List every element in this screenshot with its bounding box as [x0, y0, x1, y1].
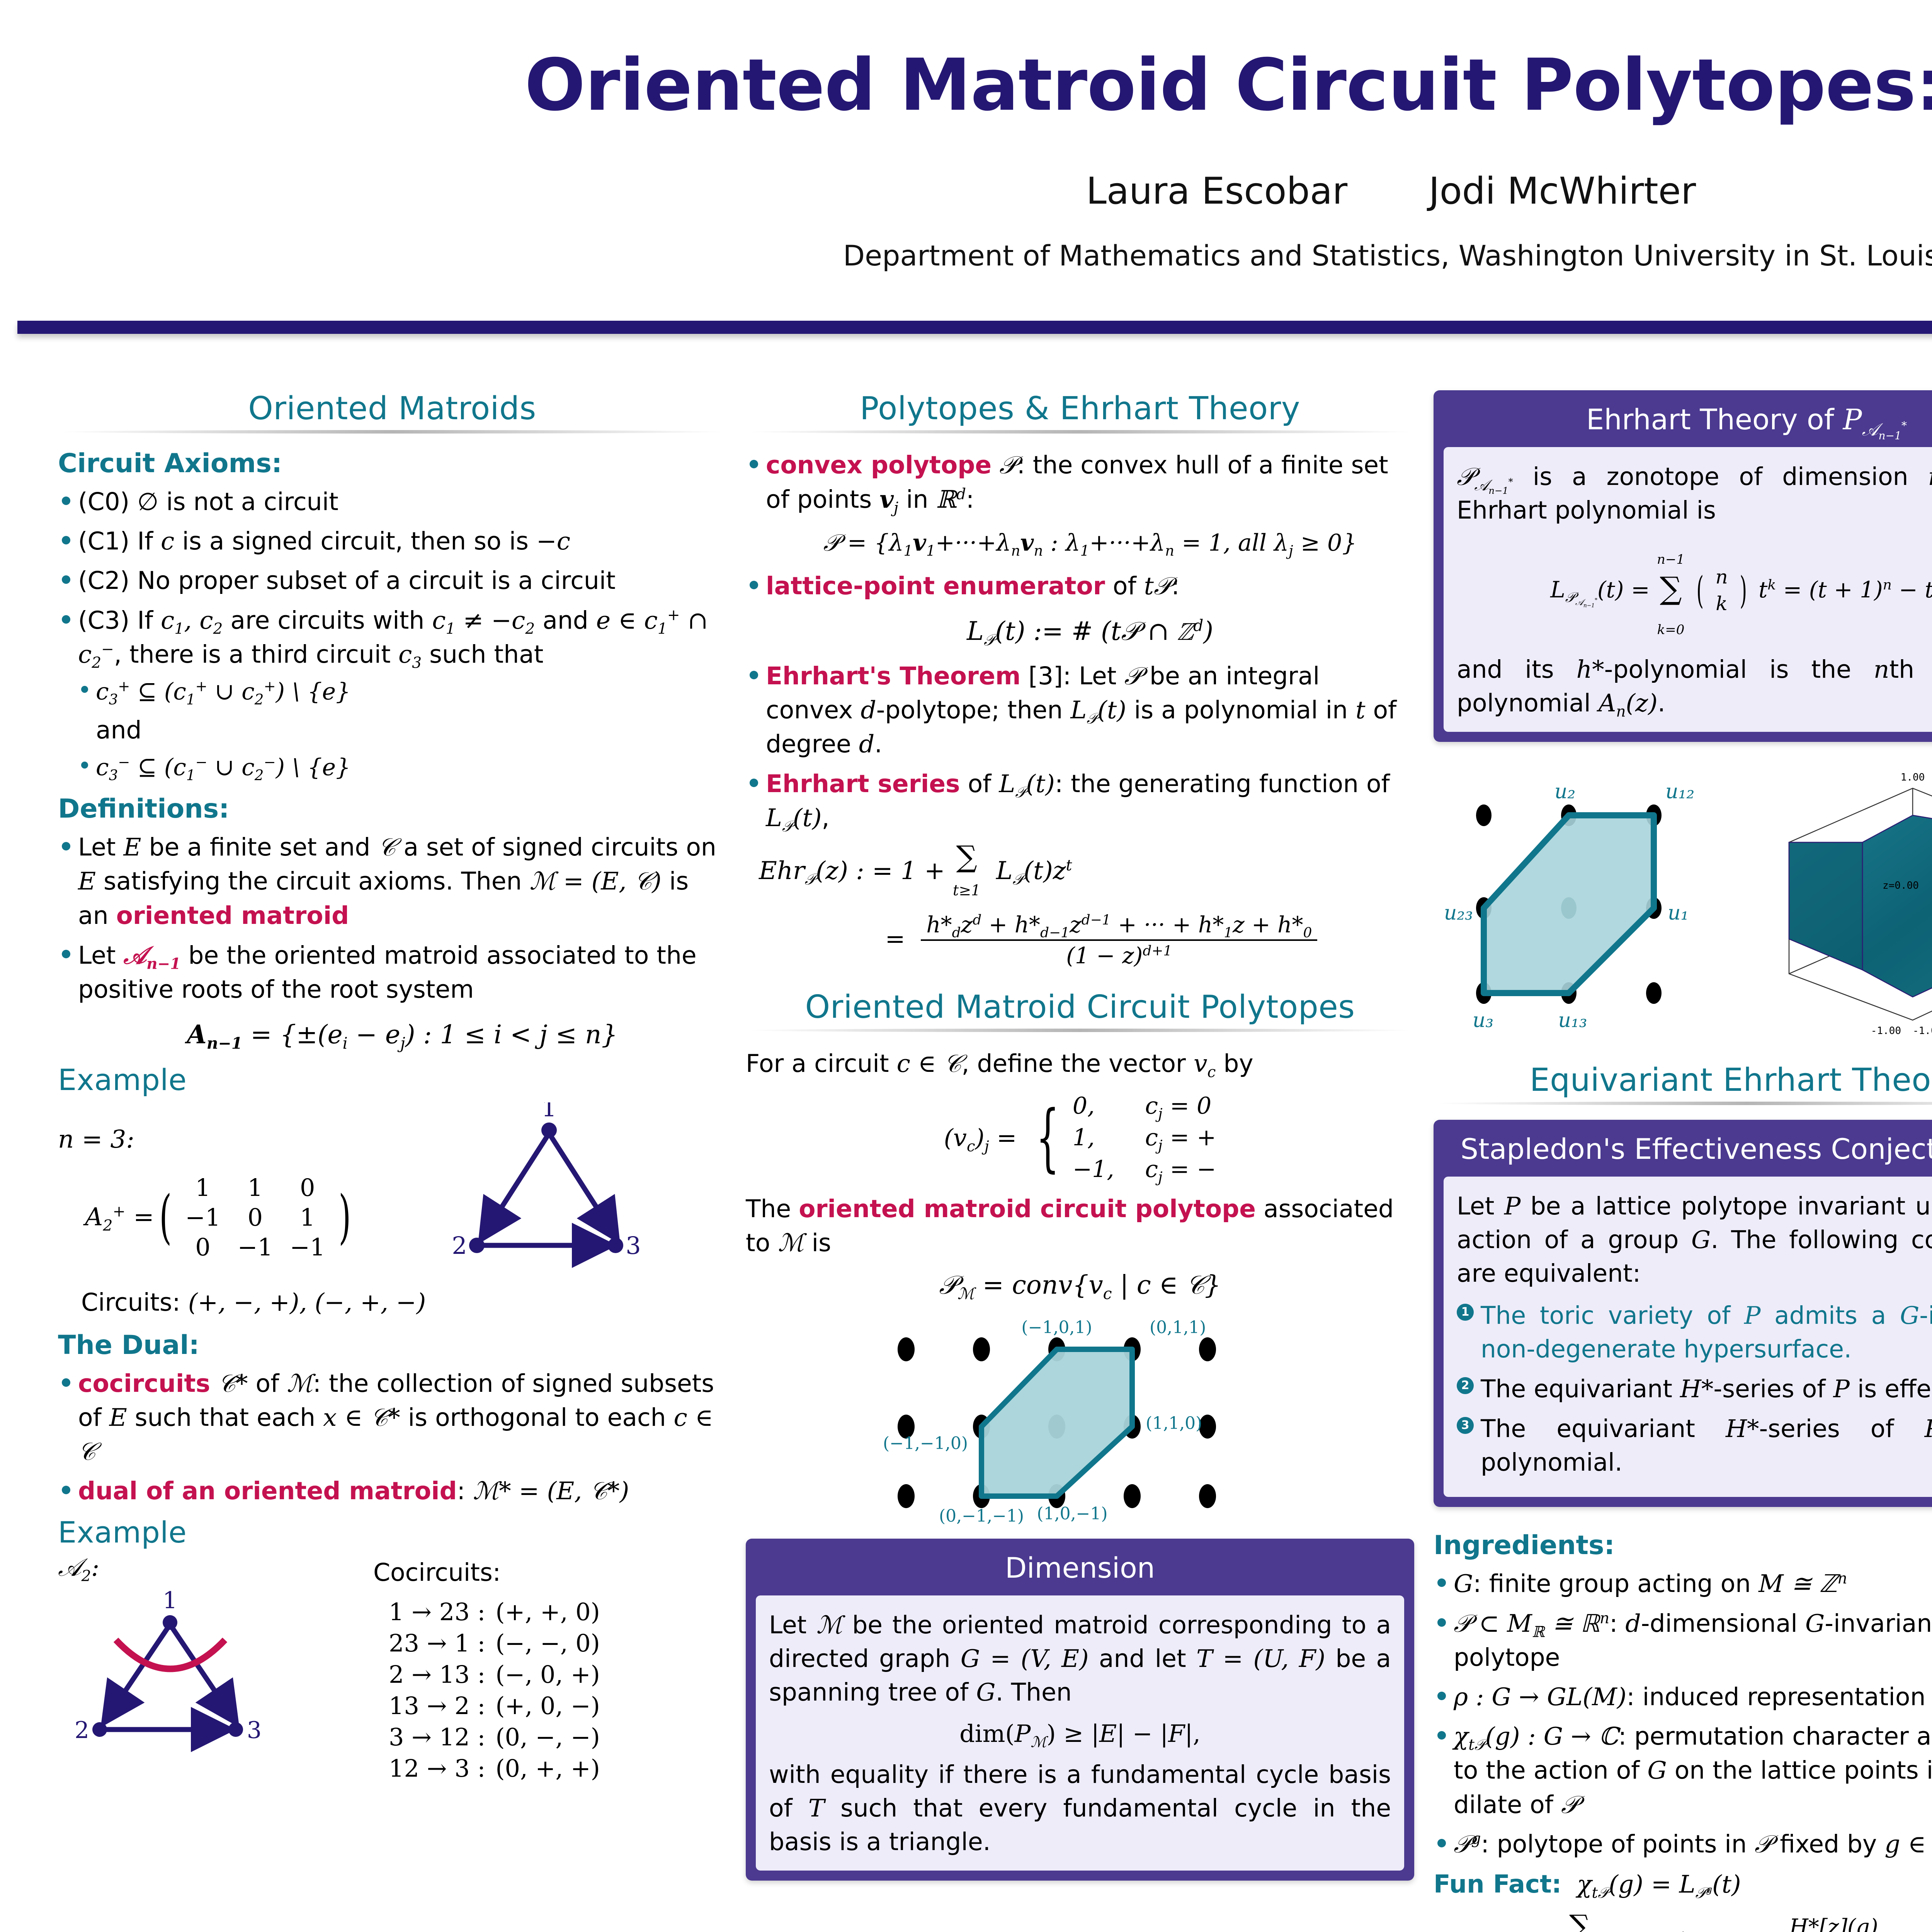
lattice-enumerator-equation: L𝒫(t) := # (t𝒫 ∩ ℤd) [766, 614, 1414, 649]
svg-text:(1,0,−1): (1,0,−1) [1037, 1504, 1107, 1524]
stapledon-conjecture-block: Stapledon's Effectiveness Conjecture [5]… [1434, 1120, 1932, 1507]
svg-text:u₂₃: u₂₃ [1444, 901, 1473, 925]
root-system-equation: An−1 = {±(ei − ej) : 1 ≤ i < j ≤ n} [78, 1017, 726, 1053]
svg-text:(1,1,0): (1,1,0) [1146, 1413, 1202, 1433]
author-1: Laura Escobar [1086, 170, 1347, 213]
svg-text:1: 1 [163, 1587, 177, 1614]
axiom-c2: (C2) No proper subset of a circuit is a … [58, 564, 726, 598]
hexagon-lattice-figure: (−1,0,1) (0,1,1) (1,1,0) (−1,−1,0) (0,−1… [746, 1311, 1414, 1529]
matrix-label: A2+ = [85, 1203, 154, 1231]
section-heading-polytopes: Polytopes & Ehrhart Theory [746, 390, 1414, 427]
vector-vc-lead: For a circuit c ∈ 𝒞, define the vector v… [746, 1047, 1414, 1081]
svg-text:z=0.00: z=0.00 [1883, 880, 1919, 891]
svg-text:(−1,0,1): (−1,0,1) [1021, 1318, 1092, 1337]
circuits-line: Circuits: (+, −, +), (−, +, −) [81, 1286, 726, 1320]
definition-cocircuits: cocircuits 𝒞* of ℳ: the collection of si… [58, 1367, 726, 1469]
ingredients-label: Ingredients: [1434, 1530, 1932, 1561]
page-title: Oriented Matroid Circuit Polytopes: Type… [0, 43, 1932, 127]
definition-lattice-point-enumerator: lattice-point enumerator of t𝒫: L𝒫(t) :=… [746, 569, 1414, 649]
column-oriented-matroids: Oriented Matroids Circuit Axioms: (C0) ∅… [58, 390, 726, 1784]
omcp-lead: The oriented matroid circuit polytope as… [746, 1192, 1414, 1260]
dimension-block: Dimension Let ℳ be the oriented matroid … [746, 1539, 1414, 1880]
circuit-axioms-list: (C0) ∅ is not a circuit (C1) If c is a s… [58, 485, 726, 784]
section-rule [746, 430, 1414, 434]
svg-text:u₃: u₃ [1473, 1009, 1493, 1032]
definition-convex-polytope: convex polytope 𝒫: the convex hull of a … [746, 448, 1414, 559]
dimension-equation: dim(Pℳ) ≥ |E| − |F|, [769, 1717, 1391, 1750]
list-number-1: 1 [1457, 1304, 1474, 1321]
ingredient-P: 𝒫 ⊂ Mℝ ≅ ℝn: d-dimensional G-invariant l… [1434, 1607, 1932, 1675]
section-heading-omcp: Oriented Matroid Circuit Polytopes [746, 989, 1414, 1026]
svg-text:2: 2 [75, 1717, 89, 1744]
svg-text:3: 3 [247, 1717, 262, 1744]
convex-polytope-equation: 𝒫 = {λ1v1+···+λnvn : λ1+···+λn = 1, all … [766, 527, 1414, 559]
ehrhart-series-fraction: = h*dzd + h*d−1zd−1 + ··· + h*1z + h*0 (… [788, 912, 1414, 969]
matrix-A2plus: 110 −101 0−1−1 [177, 1173, 333, 1262]
cocircuits-bold: cocircuits [78, 1369, 210, 1398]
dual-label: The Dual: [58, 1330, 726, 1361]
directed-triangle-graph-2: 1 2 3 [58, 1582, 328, 1764]
ehrhart-theory-heading: Ehrhart Theory of P𝒜n−1* [1434, 390, 1932, 447]
axiom-c3-sub-plus: c3+ ⊆ (c1+ ∪ c2+) \ {e} [78, 675, 726, 708]
table-row: 3 → 12 :(0, −, −) [389, 1721, 600, 1753]
example-heading-2: Example [58, 1515, 726, 1549]
column-ehrhart-theory: Ehrhart Theory of P𝒜n−1* 𝒫𝒜n−1* is a zon… [1434, 390, 1932, 1932]
table-row: 0,cj = 0 [1073, 1090, 1216, 1122]
section-heading-equivariant: Equivariant Ehrhart Theory [1434, 1062, 1932, 1099]
a2-label: 𝒜2: [58, 1553, 363, 1582]
table-row: −1,cj = − [1073, 1153, 1216, 1185]
ingredients-list: G: finite group acting on M ≅ ℤn 𝒫 ⊂ Mℝ … [1434, 1567, 1932, 1861]
author-2: Jodi McWhirter [1429, 170, 1696, 213]
affiliation: Department of Mathematics and Statistics… [0, 240, 1932, 272]
definitions-label: Definitions: [58, 794, 726, 824]
column-polytopes-ehrhart: Polytopes & Ehrhart Theory convex polyto… [746, 390, 1414, 1904]
svg-text:2: 2 [452, 1231, 467, 1260]
ehrharts-theorem: Ehrhart's Theorem [3]: Let 𝒫 be an integ… [746, 659, 1414, 762]
fun-fact: Fun Fact: χt𝒫(g) = L𝒫g(t) [1434, 1867, 1932, 1902]
table-row: 1,cj = + [1073, 1122, 1216, 1153]
svg-text:1.00: 1.00 [1901, 772, 1925, 783]
lattice-enumerator-bold: lattice-point enumerator [766, 572, 1105, 600]
ehrhart-polynomial-equation: L𝒫𝒜n−1*(t) = n−1 ∑ k=0 ( nk ) tk = (t + … [1457, 537, 1932, 643]
list-number-3: 3 [1457, 1417, 1474, 1434]
table-row: 13 → 2 :(+, 0, −) [389, 1690, 600, 1721]
circuit-axioms-label: Circuit Axioms: [58, 448, 726, 479]
dimension-block-heading: Dimension [746, 1539, 1414, 1595]
svg-text:u₁: u₁ [1668, 901, 1689, 925]
stapledon-heading: Stapledon's Effectiveness Conjecture [5] [1434, 1120, 1932, 1177]
dual-matroid-bold: dual of an oriented matroid [78, 1477, 457, 1505]
ehrhart-series-equation: Ehr𝒫(z) : = 1 + ∑ t≥1 L𝒫(t)zt [759, 844, 1414, 901]
cases-definition: (vc)j = { 0,cj = 0 1,cj = + −1,cj = − [746, 1090, 1414, 1185]
ehrhart-series: Ehrhart series of L𝒫(t): the generating … [746, 767, 1414, 835]
author-line: Laura Escobar Jodi McWhirter [0, 170, 1932, 213]
ehrhart-theory-block: Ehrhart Theory of P𝒜n−1* 𝒫𝒜n−1* is a zon… [1434, 390, 1932, 742]
stapledon-body: Let P be a lattice polytope invariant un… [1444, 1177, 1932, 1497]
stapledon-condition-2: 2 The equivariant H*-series of P is effe… [1457, 1372, 1932, 1406]
section-rule [1434, 1102, 1932, 1105]
fun-fact-equation: ∑ t≥0 χt𝒫(g)zt = H*[z](g) (1 − z) det(I … [1457, 1912, 1932, 1932]
definitions-list: Let E be a finite set and 𝒞 a set of sig… [58, 830, 726, 1053]
svg-text:1: 1 [541, 1102, 556, 1122]
svg-text:-1.00: -1.00 [1871, 1025, 1901, 1037]
section-rule [746, 1029, 1414, 1032]
header-divider [17, 321, 1932, 334]
svg-text:3: 3 [626, 1231, 641, 1260]
n-label: n = 3: [58, 1122, 356, 1157]
definition-An-1: Let 𝒜n−1 be the oriented matroid associa… [58, 938, 726, 1053]
example-heading-1: Example [58, 1063, 726, 1097]
axiom-c3-sub-minus: c3− ⊆ (c1− ∪ c2−) \ {e} [78, 751, 726, 784]
cocircuits-table: 1 → 23 :(+, +, 0) 23 → 1 :(−, −, 0) 2 → … [389, 1596, 600, 1784]
table-row: 2 → 13 :(−, 0, +) [389, 1659, 600, 1690]
svg-text:-1.00: -1.00 [1913, 1025, 1932, 1037]
svg-text:(0,1,1): (0,1,1) [1150, 1318, 1206, 1337]
section-heading-oriented-matroids: Oriented Matroids [58, 390, 726, 427]
list-number-2: 2 [1457, 1377, 1474, 1394]
axiom-c3: (C3) If c1, c2 are circuits with c1 ≠ −c… [58, 604, 726, 784]
polytope-definitions-list: convex polytope 𝒫: the convex hull of a … [746, 448, 1414, 835]
axiom-c3-and: and [78, 713, 726, 747]
table-row: 23 → 1 :(−, −, 0) [389, 1628, 600, 1659]
stapledon-condition-3: 3 The equivariant H*-series of P is a po… [1457, 1412, 1932, 1480]
directed-triangle-graph-2-wrapper: 𝒜2: 1 2 3 [58, 1553, 363, 1765]
definition-dual-matroid: dual of an oriented matroid: ℳ* = (E, 𝒞*… [58, 1474, 726, 1508]
section-rule [58, 430, 726, 434]
omcp-equation: 𝒫ℳ = conv{vc | c ∈ 𝒞} [746, 1270, 1414, 1301]
ehrhart-theory-body: 𝒫𝒜n−1* is a zonotope of dimension n−1. I… [1444, 447, 1932, 732]
svg-text:u₁₃: u₁₃ [1558, 1009, 1587, 1032]
ehrhart-series-bold: Ehrhart series [766, 770, 960, 798]
stapledon-conditions-list: 1 The toric variety of P admits a G-inva… [1457, 1299, 1932, 1480]
omcp-bold: oriented matroid circuit polytope [799, 1195, 1256, 1223]
svg-text:u₁₂: u₁₂ [1665, 780, 1694, 803]
fun-fact-label: Fun Fact: [1434, 1870, 1561, 1899]
ingredient-Pg: 𝒫g: polytope of points in 𝒫 fixed by g ∈… [1434, 1827, 1932, 1861]
ingredient-chi: χt𝒫(g) : G → ℂ: permutation character as… [1434, 1719, 1932, 1822]
ingredient-rho: ρ : G → GL(M): induced representation [1434, 1680, 1932, 1714]
axiom-c0: (C0) ∅ is not a circuit [58, 485, 726, 519]
ingredient-G: G: finite group acting on M ≅ ℤn [1434, 1567, 1932, 1601]
table-row: 12 → 3 :(0, +, +) [389, 1753, 600, 1784]
directed-triangle-graph-1: 1 2 3 [372, 1102, 726, 1282]
stapledon-condition-1: 1 The toric variety of P admits a G-inva… [1457, 1299, 1932, 1366]
svg-text:(−1,−1,0): (−1,−1,0) [883, 1434, 968, 1453]
svg-text:(0,−1,−1): (0,−1,−1) [939, 1506, 1024, 1526]
zonotope-figure-pair: u₂ u₁₂ u₂₃ u₁ u₃ u₁₃ [1434, 765, 1932, 1045]
svg-text:u₂: u₂ [1554, 780, 1575, 803]
table-row: 1 → 23 :(+, +, 0) [389, 1596, 600, 1628]
dimension-block-body: Let ℳ be the oriented matroid correspond… [756, 1595, 1404, 1870]
cocircuits-label: Cocircuits: [373, 1556, 726, 1590]
dual-list: cocircuits 𝒞* of ℳ: the collection of si… [58, 1367, 726, 1509]
ehrhart-theorem-bold: Ehrhart's Theorem [766, 662, 1021, 690]
convex-polytope-bold: convex polytope [766, 451, 992, 479]
definition-oriented-matroid: Let E be a finite set and 𝒞 a set of sig… [58, 830, 726, 933]
axiom-c1: (C1) If c is a signed circuit, then so i… [58, 524, 726, 558]
